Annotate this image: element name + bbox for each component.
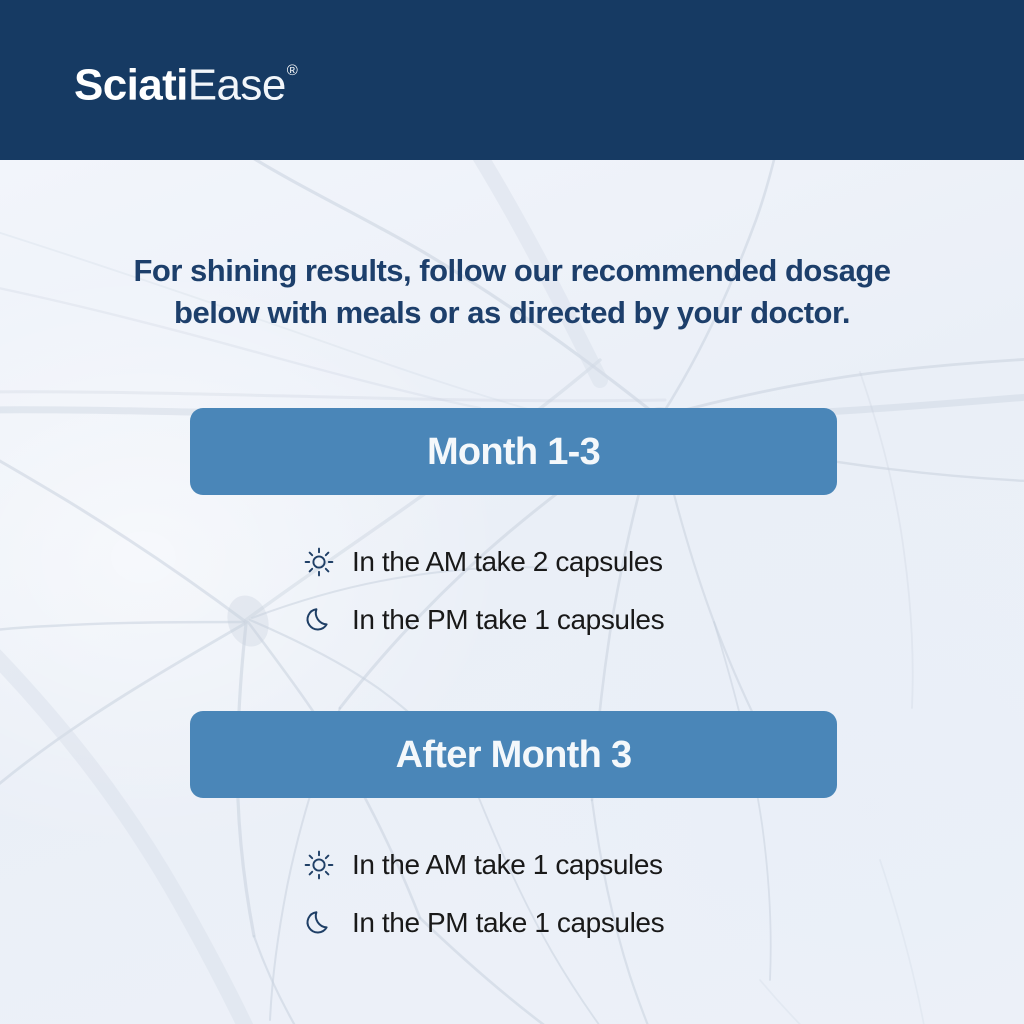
page-title: For shining results, follow our recommen… [62,250,962,334]
moon-icon [302,603,336,637]
pill-label: Month 1-3 [427,431,600,473]
dosage-section-month-1-3: Month 1-3 [190,408,837,655]
dose-row-pm: In the PM take 1 capsules [302,597,837,643]
brand-header: SciatiEase® [0,0,1024,160]
section-header-pill-month-1-3: Month 1-3 [190,408,837,495]
dose-text-am: In the AM take 2 capsules [352,545,663,579]
dose-list-month-1-3: In the AM take 2 capsules In the PM take… [190,539,837,643]
dosage-instruction-card: SciatiEase® For shining results, follow … [0,0,1024,1024]
headline-line-1: For shining results, follow our recommen… [62,250,962,292]
brand-logo: SciatiEase® [74,54,296,112]
dose-text-pm: In the PM take 1 capsules [352,603,664,637]
dose-row-pm: In the PM take 1 capsules [302,900,837,946]
dose-row-am: In the AM take 1 capsules [302,842,837,888]
dose-list-after-month-3: In the AM take 1 capsules In the PM take… [190,842,837,946]
section-header-pill-after-month-3: After Month 3 [190,711,837,798]
dose-text-pm: In the PM take 1 capsules [352,906,664,940]
registered-trademark-icon: ® [287,62,297,79]
dose-row-am: In the AM take 2 capsules [302,539,837,585]
pill-label: After Month 3 [396,734,632,776]
sun-icon [302,545,336,579]
sun-icon [302,848,336,882]
moon-icon [302,906,336,940]
logo-text-bold: Sciati [74,61,188,110]
dose-text-am: In the AM take 1 capsules [352,848,663,882]
logo-text-light: Ease [188,61,286,110]
headline-line-2: below with meals or as directed by your … [62,292,962,334]
dosage-section-after-month-3: After Month 3 [190,711,837,958]
